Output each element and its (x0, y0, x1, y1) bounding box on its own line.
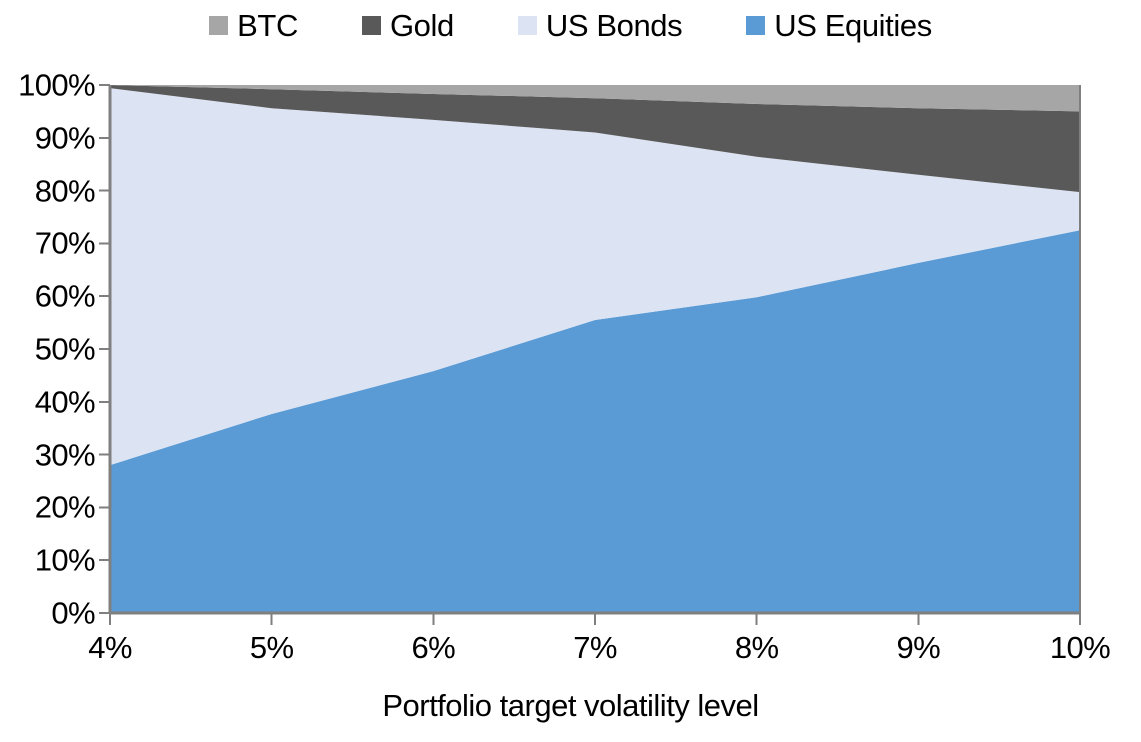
y-axis-tick-label: 0% (0, 598, 95, 629)
plot-area: 100%90%80%70%60%50%40%30%20%10%0% 4%5%6%… (0, 0, 1141, 742)
plot-svg (0, 0, 1141, 742)
x-axis-tick-label: 6% (412, 632, 456, 663)
y-axis-tick-label: 40% (0, 386, 95, 417)
y-axis-tick-label: 20% (0, 492, 95, 523)
y-axis-tick-label: 10% (0, 545, 95, 576)
y-axis-tick-label: 80% (0, 175, 95, 206)
x-axis-tick-label: 8% (735, 632, 779, 663)
y-axis-tick-label: 90% (0, 122, 95, 153)
x-axis-tick-label: 9% (897, 632, 941, 663)
x-axis-title: Portfolio target volatility level (0, 690, 1141, 721)
y-axis-tick-label: 100% (0, 70, 95, 101)
x-axis-tick-label: 10% (1050, 632, 1110, 663)
x-axis-tick-label: 5% (250, 632, 294, 663)
area-series-group (110, 85, 1080, 613)
y-axis-tick-label: 30% (0, 439, 95, 470)
y-axis-tick-label: 70% (0, 228, 95, 259)
x-axis-tick-label: 7% (573, 632, 617, 663)
y-axis-tick-label: 60% (0, 281, 95, 312)
y-axis-tick-label: 50% (0, 334, 95, 365)
stacked-area-chart: BTC Gold US Bonds US Equities 100%90%80%… (0, 0, 1141, 742)
x-axis-tick-label: 4% (88, 632, 132, 663)
